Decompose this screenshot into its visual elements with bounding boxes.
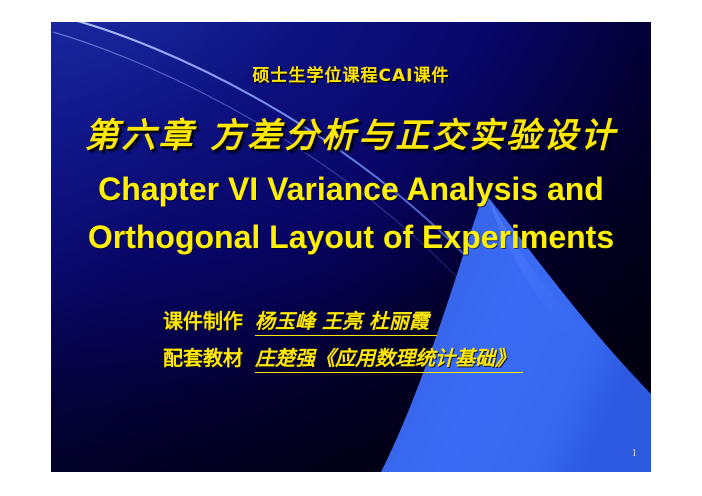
credit-line-textbook: 配套教材庄楚强《应用数理统计基础》 [163,342,583,373]
slide-viewport: 硕士生学位课程CAI课件 第六章 方差分析与正交实验设计 Chapter VI … [0,0,702,496]
slide-title-chinese: 第六章 方差分析与正交实验设计 [51,118,651,155]
slide-title-english-line2: Orthogonal Layout of Experiments [51,220,651,255]
credit-label-textbook: 配套教材 [163,342,243,371]
credit-label-courseware: 课件制作 [163,305,243,334]
presentation-slide: 硕士生学位课程CAI课件 第六章 方差分析与正交实验设计 Chapter VI … [51,22,651,472]
slide-kicker-text: 硕士生学位课程CAI课件 [51,67,651,86]
credit-value-textbook: 庄楚强《应用数理统计基础》 [255,342,523,373]
slide-title-english-line1: Chapter VI Variance Analysis and [51,172,651,207]
credit-value-courseware: 杨玉峰 王亮 杜丽霞 [255,305,437,336]
credit-line-courseware: 课件制作杨玉峰 王亮 杜丽霞 [163,305,583,336]
slide-page-number: 1 [632,447,638,459]
